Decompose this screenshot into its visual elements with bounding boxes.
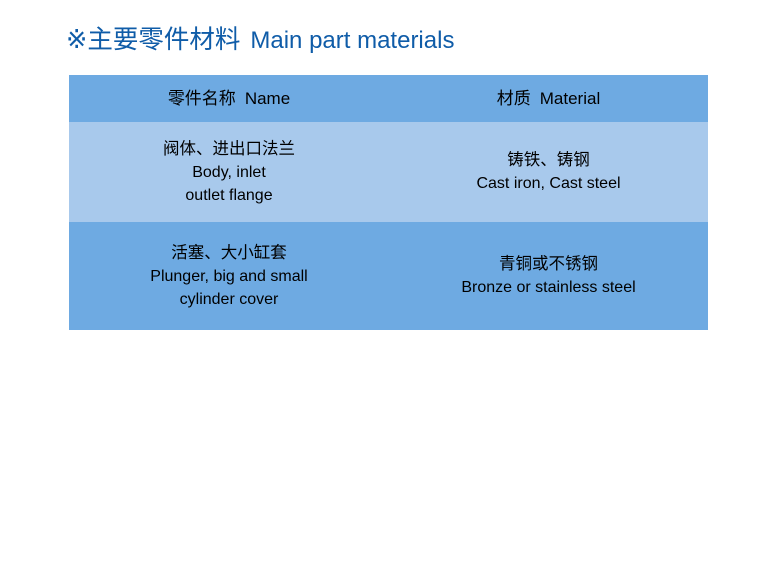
table-row: 阀体、进出口法兰 Body, inlet outlet flange 铸铁、铸钢… bbox=[69, 122, 708, 222]
header-name-cn: 零件名称 bbox=[168, 88, 236, 110]
main-part-materials-table: 零件名称 Name 材质 Material 阀体、进出口法兰 Body, inl… bbox=[69, 75, 708, 330]
page-title-cn: ※主要零件材料 bbox=[66, 25, 240, 55]
table-header-row: 零件名称 Name 材质 Material bbox=[69, 75, 708, 122]
header-name-en: Name bbox=[245, 88, 290, 110]
slide-canvas: ※主要零件材料 Main part materials 零件名称 Name 材质… bbox=[0, 0, 778, 588]
row0-material-cn: 铸铁、铸钢 bbox=[397, 149, 700, 172]
page-title: ※主要零件材料 Main part materials bbox=[66, 25, 454, 56]
header-material-cn: 材质 bbox=[497, 88, 531, 110]
row1-material-en-line1: Bronze or stainless steel bbox=[397, 276, 700, 299]
header-material-en: Material bbox=[540, 88, 600, 110]
table-cell-name: 活塞、大小缸套 Plunger, big and small cylinder … bbox=[69, 222, 389, 330]
row1-name-en-line2: cylinder cover bbox=[77, 288, 381, 311]
row1-material-cn: 青铜或不锈钢 bbox=[397, 253, 700, 276]
row0-name-cn: 阀体、进出口法兰 bbox=[77, 138, 381, 161]
table-cell-material: 铸铁、铸钢 Cast iron, Cast steel bbox=[389, 122, 708, 222]
row1-name-en-line1: Plunger, big and small bbox=[77, 265, 381, 288]
table-cell-material: 青铜或不锈钢 Bronze or stainless steel bbox=[389, 222, 708, 330]
table-row: 活塞、大小缸套 Plunger, big and small cylinder … bbox=[69, 222, 708, 330]
table-cell-name: 阀体、进出口法兰 Body, inlet outlet flange bbox=[69, 122, 389, 222]
page-title-en: Main part materials bbox=[250, 26, 454, 56]
row0-material-en-line1: Cast iron, Cast steel bbox=[397, 172, 700, 195]
table-header-cell-name: 零件名称 Name bbox=[69, 75, 389, 122]
row0-name-en-line1: Body, inlet bbox=[77, 161, 381, 184]
row1-name-cn: 活塞、大小缸套 bbox=[77, 242, 381, 265]
table-header-cell-material: 材质 Material bbox=[389, 75, 708, 122]
row0-name-en-line2: outlet flange bbox=[77, 184, 381, 207]
